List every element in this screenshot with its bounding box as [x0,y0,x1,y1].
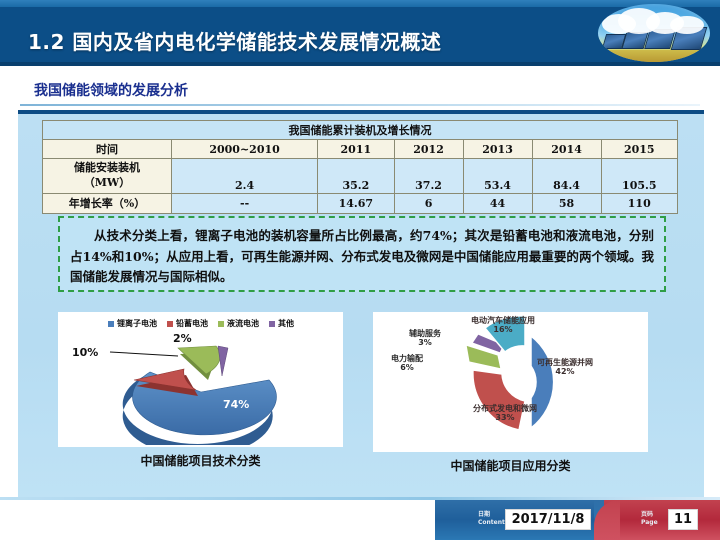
table-title-row: 我国储能累计装机及增长情况 [43,121,678,140]
table-header-cell: 2014 [532,140,601,159]
table-header-cell: 2013 [463,140,532,159]
legend-swatch-icon [218,321,224,327]
footer-page-label: 页码 Page [641,511,658,526]
donut-label-ancillary-service: 辅助服务3% [397,329,453,347]
table-cell: 37.2 [394,159,463,194]
legend-item: 其他 [269,318,294,329]
slide-header: 1.2 国内及省内电化学储能技术发展情况概述 [0,0,720,66]
table-header-cell: 2015 [601,140,677,159]
legend-swatch-icon [167,321,173,327]
footer-date-label: 日期 Content [478,511,505,526]
legend-label: 液流电池 [227,318,259,329]
analysis-note-text: 从技术分类上看，锂离子电池的装机容量所占比例最高，约74%；其次是铅蓄电池和液流… [60,218,664,288]
cloud-shape [670,16,704,34]
application-donut-chart: 可再生能源并网42% 分布式发电和微网33% 电力输配6% 辅助服务3% 电动汽… [373,312,648,452]
legend-label: 其他 [278,318,294,329]
content-panel: 我国储能累计装机及增长情况 时间 2000~2010 2011 2012 201… [18,110,704,499]
legend-label: 铅蓄电池 [176,318,208,329]
table-cell: 2.4 [172,159,318,194]
pie-data-label-other: 2% [173,332,192,345]
donut-label-ev-storage: 电动汽车储能应用16% [471,316,535,334]
donut-value-text: 16% [493,325,512,334]
footer-page-panel [604,500,720,540]
donut-label-text: 可再生能源并网 [537,358,593,367]
tech-pie-legend: 锂离子电池 铅蓄电池 液流电池 其他 [66,318,336,329]
pie-data-label-lithium: 74% [223,398,249,411]
table-header-cell: 2011 [318,140,394,159]
table-row: 年增长率（%） -- 14.67 6 44 58 110 [43,193,678,213]
table-cell: 105.5 [601,159,677,194]
ground-band [598,50,710,62]
table-row: 储能安装装机 （MW） 2.4 35.2 37.2 53.4 84.4 105.… [43,159,678,194]
table-cell: 6 [394,193,463,213]
donut-label-power-transmission: 电力输配6% [379,354,435,372]
slide-footer: 日期 Content 2017/11/8 页码 Page 11 [0,498,720,540]
slide: 1.2 国内及省内电化学储能技术发展情况概述 我国储能领域的发展分析 我国储能累… [0,0,720,540]
header-top-strip [0,0,720,7]
table-header-cell: 时间 [43,140,172,159]
table-header-cell: 2000~2010 [172,140,318,159]
donut-label-distributed-microgrid: 分布式发电和微网33% [473,404,537,422]
analysis-note-box: 从技术分类上看，锂离子电池的装机容量所占比例最高，约74%；其次是铅蓄电池和液流… [58,216,666,292]
donut-label-renewable-grid: 可再生能源并网42% [535,358,595,376]
donut-value-text: 42% [555,367,574,376]
footer-date-value: 2017/11/8 [505,509,591,530]
section-subtitle: 我国储能领域的发展分析 [34,80,188,100]
donut-value-text: 6% [400,363,414,372]
table-row-label: 年增长率（%） [43,193,172,213]
legend-label: 锂离子电池 [117,318,157,329]
pie-data-label-lead-acid: 14% [115,368,141,381]
tech-pie-caption: 中国储能项目技术分类 [58,452,343,469]
table-header-row: 时间 2000~2010 2011 2012 2013 2014 2015 [43,140,678,159]
header-bottom-rule [0,62,720,66]
table-cell: -- [172,193,318,213]
table-cell: 35.2 [318,159,394,194]
table-title: 我国储能累计装机及增长情况 [43,121,678,140]
donut-value-text: 3% [418,338,432,347]
donut-value-text: 33% [495,413,514,422]
table-cell: 44 [463,193,532,213]
leader-line [110,352,178,356]
table-header-cell: 2012 [394,140,463,159]
legend-swatch-icon [108,321,114,327]
legend-item: 液流电池 [218,318,259,329]
donut-label-text: 辅助服务 [409,329,441,338]
tech-pie-chart: 锂离子电池 铅蓄电池 液流电池 其他 [58,312,343,447]
donut-label-text: 电动汽车储能应用 [471,316,535,325]
table-cell: 110 [601,193,677,213]
table-row-label: 储能安装装机 （MW） [43,159,172,194]
pie-data-label-flow: 10% [72,346,98,359]
solar-panel-photo-icon [598,4,710,62]
donut-label-text: 分布式发电和微网 [473,404,537,413]
storage-capacity-table: 我国储能累计装机及增长情况 时间 2000~2010 2011 2012 201… [42,120,678,214]
legend-swatch-icon [269,321,275,327]
footer-page-value: 11 [668,509,698,530]
application-donut-caption: 中国储能项目应用分类 [373,457,648,474]
legend-item: 铅蓄电池 [167,318,208,329]
legend-item: 锂离子电池 [108,318,157,329]
donut-label-text: 电力输配 [391,354,423,363]
table-cell: 14.67 [318,193,394,213]
page-title: 1.2 国内及省内电化学储能技术发展情况概述 [28,26,441,55]
table-cell: 84.4 [532,159,601,194]
subtitle-divider [20,104,700,106]
table-cell: 53.4 [463,159,532,194]
tech-pie-graphic [58,330,343,445]
storage-capacity-table-wrapper: 我国储能累计装机及增长情况 时间 2000~2010 2011 2012 201… [42,120,678,214]
table-cell: 58 [532,193,601,213]
